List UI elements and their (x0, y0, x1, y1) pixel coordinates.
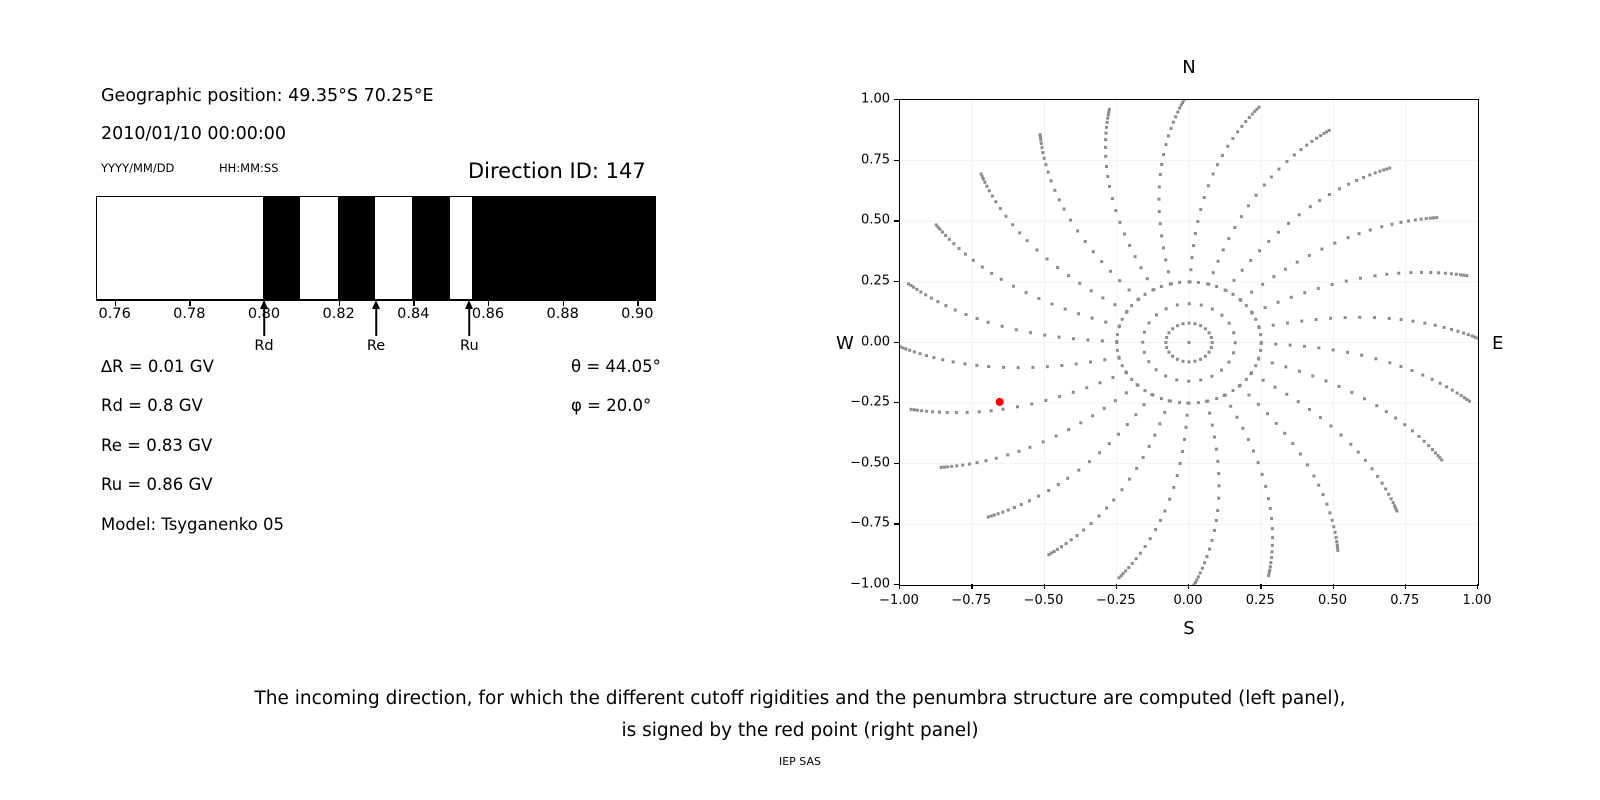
direction-point (1347, 183, 1350, 186)
direction-point (1297, 400, 1300, 403)
direction-point (1456, 392, 1459, 395)
direction-point (1108, 108, 1111, 111)
sky-map-y-tick (894, 160, 899, 161)
direction-point (1105, 165, 1108, 168)
direction-point (1067, 428, 1070, 431)
direction-point (1286, 321, 1289, 324)
direction-point (1164, 341, 1167, 344)
direction-point (964, 253, 967, 256)
direction-point (1046, 365, 1049, 368)
direction-point (985, 459, 988, 462)
direction-point (1233, 226, 1236, 229)
direction-point (1390, 497, 1393, 500)
sky-map-y-tick-label: 0.00 (861, 334, 890, 349)
direction-point (1171, 327, 1174, 330)
direction-point (1231, 389, 1234, 392)
direction-point (1028, 446, 1031, 449)
direction-point (1400, 318, 1403, 321)
direction-point (1105, 507, 1108, 510)
direction-point (1332, 348, 1335, 351)
direction-point (1350, 391, 1353, 394)
direction-point (1252, 450, 1255, 453)
direction-point (985, 185, 988, 188)
direction-point (1257, 357, 1260, 360)
direction-point (1359, 277, 1362, 280)
sky-map-y-tick-label: −0.50 (850, 455, 890, 470)
direction-point (1462, 274, 1465, 277)
direction-point (1232, 351, 1235, 354)
sky-map-y-tick-label: 0.75 (861, 152, 890, 167)
direction-point (1184, 426, 1187, 429)
direction-point (995, 457, 998, 460)
direction-point (1299, 148, 1302, 151)
direction-point (1007, 509, 1010, 512)
left-panel: Geographic position: 49.35°S 70.25°E 201… (0, 0, 800, 660)
direction-point (1403, 423, 1406, 426)
direction-point (1158, 185, 1161, 188)
direction-point (1158, 210, 1161, 213)
direction-point (1298, 370, 1301, 373)
direction-point (1382, 168, 1385, 171)
direction-point (1390, 223, 1393, 226)
direction-point (944, 304, 947, 307)
direction-point (935, 223, 938, 226)
direction-point (1135, 467, 1138, 470)
direction-point (1236, 130, 1239, 133)
direction-point (1111, 197, 1114, 200)
direction-point (1104, 155, 1107, 158)
direction-point (958, 247, 961, 250)
direction-point (1331, 283, 1334, 286)
direction-point (1235, 416, 1238, 419)
direction-point (1167, 270, 1170, 273)
direction-point (1188, 341, 1191, 344)
direction-point (1017, 366, 1020, 369)
compass-label-east: E (1492, 333, 1503, 354)
direction-point (1084, 240, 1087, 243)
sky-map-x-tick (899, 584, 900, 589)
direction-point (901, 346, 904, 349)
sky-map-x-tick (1116, 584, 1117, 589)
direction-point (1128, 288, 1131, 291)
direction-point (1264, 485, 1267, 488)
direction-point (981, 266, 984, 269)
direction-point (1317, 287, 1320, 290)
direction-point (1269, 561, 1272, 564)
direction-point (1192, 244, 1195, 247)
direction-point (1420, 271, 1423, 274)
sky-map-x-tick-label: 0.75 (1390, 593, 1419, 608)
direction-point (1355, 179, 1358, 182)
direction-point (1108, 442, 1111, 445)
direction-point (1268, 569, 1271, 572)
direction-point (1266, 412, 1269, 415)
direction-point (1374, 171, 1377, 174)
direction-point (1340, 433, 1343, 436)
direction-point (1437, 271, 1440, 274)
direction-point (1189, 268, 1192, 271)
direction-point (1193, 583, 1196, 585)
direction-point (1106, 117, 1109, 120)
direction-point (1077, 312, 1080, 315)
direction-point (1013, 506, 1016, 509)
direction-point (1417, 435, 1420, 438)
direction-point (1162, 153, 1165, 156)
direction-point (1134, 255, 1137, 258)
direction-point (1285, 393, 1288, 396)
sky-map-x-tick-label: 0.50 (1318, 593, 1347, 608)
direction-point (1091, 317, 1094, 320)
direction-point (943, 466, 946, 469)
figure-caption: The incoming direction, for which the di… (0, 683, 1600, 747)
direction-point (1144, 389, 1147, 392)
direction-point (1188, 302, 1191, 305)
direction-point (1335, 540, 1338, 543)
direction-point (1106, 175, 1109, 178)
direction-point (1440, 459, 1443, 462)
direction-point (1072, 391, 1075, 394)
direction-point (1259, 349, 1262, 352)
direction-point (1315, 318, 1318, 321)
direction-point (1206, 400, 1209, 403)
direction-point (1269, 507, 1272, 510)
direction-point (1455, 273, 1458, 276)
direction-point (1187, 360, 1190, 363)
direction-point (1375, 404, 1378, 407)
direction-point (1187, 380, 1190, 383)
direction-point (1050, 179, 1053, 182)
sky-map-x-tick-label: −0.75 (951, 593, 991, 608)
direction-point (1397, 272, 1400, 275)
direction-point (1085, 386, 1088, 389)
direction-point (1165, 346, 1168, 349)
direction-point (1263, 183, 1266, 186)
direction-point (1211, 341, 1214, 344)
direction-point (908, 349, 911, 352)
direction-point (1434, 324, 1437, 327)
direction-point (1181, 450, 1184, 453)
direction-point (1149, 537, 1152, 540)
direction-point (1017, 450, 1020, 453)
direction-point (1092, 250, 1095, 253)
direction-point (932, 356, 935, 359)
direction-point (1229, 405, 1232, 408)
direction-point (1325, 379, 1328, 382)
direction-point (1296, 261, 1299, 264)
direction-point (1118, 279, 1121, 282)
direction-point (1196, 220, 1199, 223)
sky-map-x-tick-label: −1.00 (879, 593, 919, 608)
direction-point (919, 290, 922, 293)
direction-point (1317, 346, 1320, 349)
direction-point (1211, 539, 1214, 542)
direction-point (1431, 378, 1434, 381)
direction-point (1127, 566, 1130, 569)
direction-point (1125, 311, 1128, 314)
direction-point (966, 411, 969, 414)
sky-map-y-tick-label: −0.75 (850, 516, 890, 531)
direction-point (952, 360, 955, 363)
direction-point (1111, 376, 1114, 379)
direction-point (1257, 106, 1260, 109)
direction-point (1212, 172, 1215, 175)
direction-point (1247, 438, 1250, 441)
direction-point (1118, 576, 1121, 579)
direction-point (1016, 405, 1019, 408)
sky-map-y-tick (894, 463, 899, 464)
direction-point (918, 352, 921, 355)
sky-map-x-tick (1333, 584, 1334, 589)
direction-point (1208, 351, 1211, 354)
geographic-position-text: Geographic position: 49.35°S 70.25°E (101, 86, 434, 106)
penumbra-band-forbidden (263, 197, 300, 299)
direction-point (1069, 219, 1072, 222)
direction-point (1167, 134, 1170, 137)
direction-point (1120, 488, 1123, 491)
direction-point (1387, 493, 1390, 496)
direction-point (1072, 337, 1075, 340)
direction-point (1317, 484, 1320, 487)
direction-point (1239, 298, 1242, 301)
direction-point (1041, 151, 1044, 154)
sky-map-y-tick (894, 402, 899, 403)
parameter-item: Model: Tsyganenko 05 (101, 515, 284, 534)
direction-point (1371, 467, 1374, 470)
direction-point (1425, 217, 1428, 220)
direction-point (1112, 499, 1115, 502)
direction-point (1151, 394, 1154, 397)
direction-point (1423, 440, 1426, 443)
direction-point (1241, 427, 1244, 430)
direction-point (1207, 184, 1210, 187)
direction-point (1217, 472, 1220, 475)
direction-point (1271, 361, 1274, 364)
direction-point (1308, 254, 1311, 257)
direction-point (1224, 394, 1227, 397)
direction-point (1322, 493, 1325, 496)
direction-point (916, 409, 919, 412)
direction-point (941, 358, 944, 361)
direction-point (1197, 401, 1200, 404)
direction-point (1257, 403, 1260, 406)
direction-point (1077, 469, 1080, 472)
direction-point (990, 272, 993, 275)
sky-map-y-tick (894, 281, 899, 282)
caption-line-2: is signed by the red point (right panel) (0, 715, 1600, 747)
direction-point (1213, 529, 1216, 532)
direction-point (1114, 399, 1117, 402)
direction-point (1421, 374, 1424, 377)
direction-point (1118, 221, 1121, 224)
direction-point (1135, 557, 1138, 560)
datetime-text: 2010/01/10 00:00:00 (101, 124, 286, 144)
direction-point (1131, 562, 1134, 565)
direction-point (1245, 378, 1248, 381)
direction-point (1106, 121, 1109, 124)
direction-point (987, 365, 990, 368)
direction-point (1136, 384, 1139, 387)
direction-point (1047, 553, 1050, 556)
direction-point (1182, 100, 1185, 102)
direction-point (1358, 316, 1361, 319)
direction-point (1181, 360, 1184, 363)
direction-point (1450, 272, 1453, 275)
direction-point (1178, 401, 1181, 404)
direction-point (1037, 495, 1040, 498)
direction-point (983, 181, 986, 184)
direction-point (1199, 571, 1202, 574)
selected-direction-point (996, 398, 1004, 406)
direction-point (1163, 411, 1166, 414)
direction-point (980, 173, 983, 176)
direction-point (910, 408, 913, 411)
direction-point (990, 409, 993, 412)
direction-point (1306, 463, 1309, 466)
direction-point (1158, 422, 1161, 425)
direction-point (1249, 259, 1252, 262)
direction-point (1450, 328, 1453, 331)
direction-point (1376, 475, 1379, 478)
direction-point (1444, 272, 1447, 275)
direction-point (1143, 351, 1146, 354)
direction-point (1170, 127, 1173, 130)
direction-point (1409, 271, 1412, 274)
direction-point (1199, 358, 1202, 361)
direction-point (1451, 389, 1454, 392)
direction-point (1053, 550, 1056, 553)
direction-point (1208, 331, 1211, 334)
direction-point (936, 300, 939, 303)
date-format-hint: YYYY/MM/DD (101, 161, 174, 175)
direction-point (1047, 171, 1050, 174)
direction-point (1240, 215, 1243, 218)
caption-line-1: The incoming direction, for which the di… (0, 683, 1600, 715)
direction-point (1172, 121, 1175, 124)
direction-point (1169, 282, 1172, 285)
direction-point (1160, 234, 1163, 237)
direction-point (1178, 281, 1181, 284)
direction-point (1283, 432, 1286, 435)
direction-point (1079, 421, 1082, 424)
direction-point (941, 231, 944, 234)
penumbra-band-forbidden (472, 197, 656, 299)
sky-map-x-tick-label: 0.00 (1174, 593, 1203, 608)
direction-point (1018, 231, 1021, 234)
direction-point (1040, 146, 1043, 149)
direction-point (1217, 260, 1220, 263)
direction-point (988, 189, 991, 192)
direction-point (1026, 239, 1029, 242)
direction-point (1199, 324, 1202, 327)
sky-map-x-tick (1260, 584, 1261, 589)
direction-point (1257, 325, 1260, 328)
direction-point (946, 465, 949, 468)
direction-point (1349, 443, 1352, 446)
direction-point (1332, 525, 1335, 528)
direction-point (1155, 368, 1158, 371)
direction-point (907, 282, 910, 285)
direction-point (1381, 482, 1384, 485)
direction-point (1338, 187, 1341, 190)
direction-point (1432, 216, 1435, 219)
direction-point (1227, 361, 1230, 364)
direction-point (904, 347, 907, 350)
direction-point (975, 364, 978, 367)
direction-point (991, 195, 994, 198)
direction-point (1098, 514, 1101, 517)
parameter-item: Rd = 0.8 GV (101, 396, 203, 415)
direction-point (940, 466, 943, 469)
direction-point (1058, 198, 1061, 201)
direction-point (1357, 451, 1360, 454)
direction-point (1057, 483, 1060, 486)
direction-point (1015, 328, 1018, 331)
direction-point (1046, 257, 1049, 260)
direction-point (1115, 341, 1118, 344)
direction-point (1310, 140, 1313, 143)
direction-point (1104, 321, 1107, 324)
direction-point (1188, 402, 1191, 405)
direction-point (925, 354, 928, 357)
direction-point (1471, 335, 1474, 338)
direction-point (1200, 304, 1203, 307)
direction-point (1287, 222, 1290, 225)
direction-point (1176, 324, 1179, 327)
direction-point (1338, 385, 1341, 388)
direction-point (1227, 237, 1230, 240)
direction-point (1385, 273, 1388, 276)
direction-point (1226, 145, 1229, 148)
direction-point (1362, 176, 1365, 179)
direction-point (1208, 548, 1211, 551)
direction-point (930, 297, 933, 300)
direction-point (1220, 314, 1223, 317)
direction-point (1271, 550, 1274, 553)
penumbra-tick-label: 0.78 (173, 306, 205, 322)
direction-point (1385, 410, 1388, 413)
direction-point (1251, 113, 1254, 116)
direction-point (1358, 232, 1361, 235)
penumbra-marker-label: Ru (460, 338, 479, 354)
direction-point (1212, 271, 1215, 274)
direction-point (1100, 260, 1103, 263)
sky-map-x-tick (1477, 584, 1478, 589)
direction-point (1159, 173, 1162, 176)
direction-point (1300, 320, 1303, 323)
direction-point (1270, 517, 1273, 520)
direction-point (1380, 225, 1383, 228)
direction-point (1098, 381, 1101, 384)
direction-point (1063, 207, 1066, 210)
direction-point (1262, 379, 1265, 382)
direction-point (1158, 198, 1161, 201)
direction-point (1272, 324, 1275, 327)
direction-point (1101, 296, 1104, 299)
direction-point (1474, 336, 1477, 339)
direction-point (1345, 280, 1348, 283)
direction-point (1384, 487, 1387, 490)
sky-map-x-tick-label: −0.50 (1024, 593, 1064, 608)
direction-point (1121, 318, 1124, 321)
direction-point (1109, 270, 1112, 273)
direction-point (987, 321, 990, 324)
direction-point (1128, 244, 1131, 247)
direction-point (1268, 571, 1271, 574)
sky-map-y-tick-label: 0.25 (861, 273, 890, 288)
direction-point (1336, 544, 1339, 547)
direction-point (1431, 448, 1434, 451)
direction-point (1443, 326, 1446, 329)
